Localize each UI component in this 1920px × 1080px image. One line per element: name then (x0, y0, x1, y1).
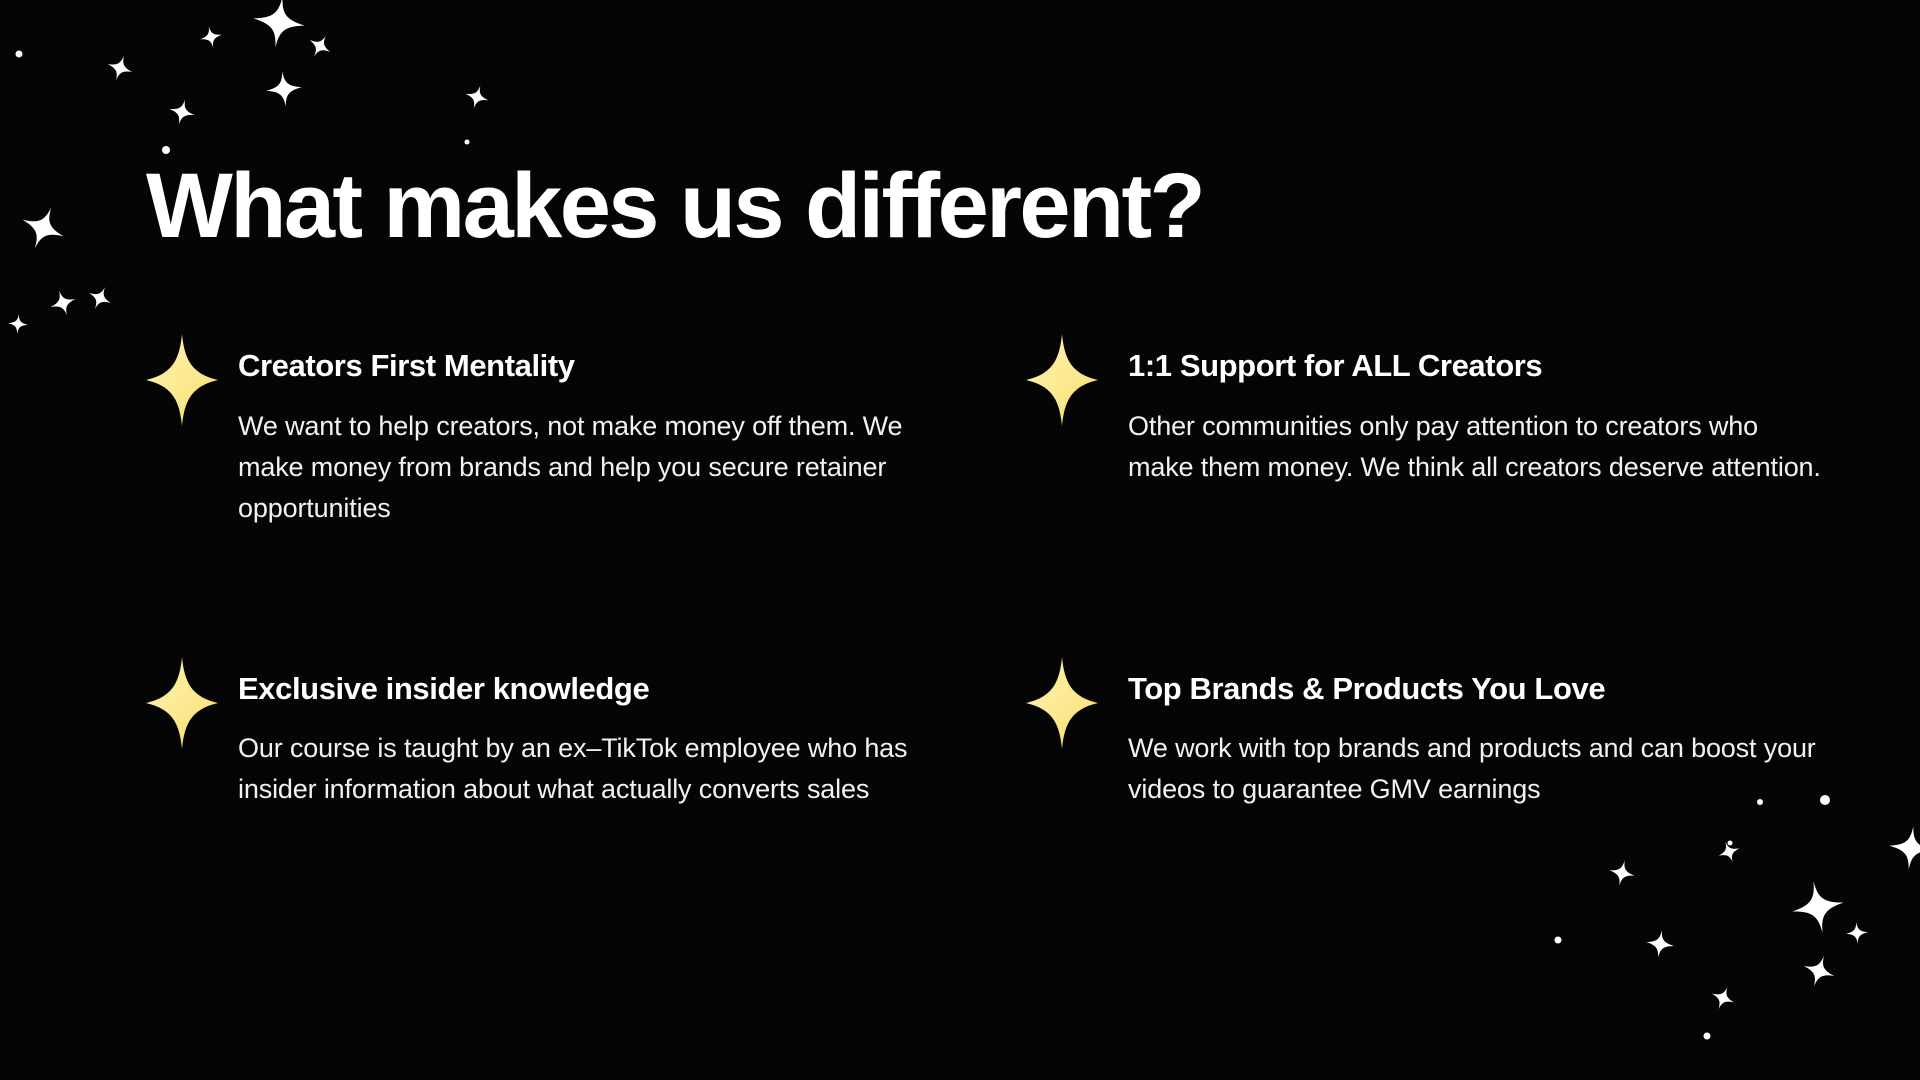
decorative-star-icon (462, 82, 492, 112)
decorative-star-icon (250, 0, 309, 51)
decorative-star-icon (47, 287, 80, 320)
decorative-dot-icon (162, 146, 170, 154)
decorative-star-icon (304, 30, 337, 63)
page-title: What makes us different? (146, 160, 1203, 252)
decorative-star-icon (166, 96, 198, 128)
feature-description: Our course is taught by an ex–TikTok emp… (238, 728, 938, 810)
decorative-star-icon (198, 24, 224, 50)
sparkle-icon (146, 655, 238, 751)
feature-title: Top Brands & Products You Love (1128, 671, 1846, 707)
slide-root: What makes us different? Creators Fi (0, 0, 1920, 1080)
feature-body: Creators First Mentality We want to help… (238, 348, 966, 529)
feature-description: We work with top brands and products and… (1128, 728, 1828, 810)
feature-title: 1:1 Support for ALL Creators (1128, 348, 1846, 384)
feature-title: Creators First Mentality (238, 348, 966, 384)
decorative-star-icon (1799, 951, 1839, 991)
feature-body: Top Brands & Products You Love We work w… (1118, 671, 1846, 811)
feature-card-creators-first-mentality: Creators First Mentality We want to help… (146, 348, 966, 529)
feature-grid: Creators First Mentality We want to help… (146, 348, 1846, 810)
decorative-star-icon (14, 199, 71, 256)
decorative-star-icon (1715, 838, 1743, 866)
decorative-dot-icon (1555, 937, 1562, 944)
sparkle-icon (1026, 655, 1118, 751)
decorative-star-icon (1845, 921, 1868, 944)
decorative-dot-icon (465, 140, 470, 145)
decorative-star-icon (1707, 982, 1738, 1013)
decorative-dot-icon (1704, 1033, 1711, 1040)
decorative-star-icon (1607, 858, 1638, 889)
decorative-dot-icon (16, 51, 23, 58)
feature-card-exclusive-insider-knowledge: Exclusive insider knowledge Our course i… (146, 671, 966, 811)
feature-description: We want to help creators, not make money… (238, 406, 938, 529)
sparkle-icon (1026, 332, 1118, 428)
sparkle-icon (146, 332, 238, 428)
feature-description: Other communities only pay attention to … (1128, 406, 1828, 488)
decorative-star-icon (104, 52, 137, 85)
feature-body: Exclusive insider knowledge Our course i… (238, 671, 966, 811)
feature-title: Exclusive insider knowledge (238, 671, 966, 707)
feature-card-1-1-support-for-all-creators: 1:1 Support for ALL Creators Other commu… (1026, 348, 1846, 529)
decorative-dot-icon (1728, 841, 1733, 846)
feature-card-top-brands-products-you-love: Top Brands & Products You Love We work w… (1026, 671, 1846, 811)
feature-body: 1:1 Support for ALL Creators Other commu… (1118, 348, 1846, 488)
decorative-star-icon (264, 69, 304, 109)
decorative-star-icon (7, 313, 29, 335)
decorative-star-icon (1887, 824, 1920, 872)
decorative-star-icon (1644, 928, 1676, 960)
decorative-star-icon (84, 282, 116, 314)
decorative-star-icon (1788, 877, 1848, 937)
